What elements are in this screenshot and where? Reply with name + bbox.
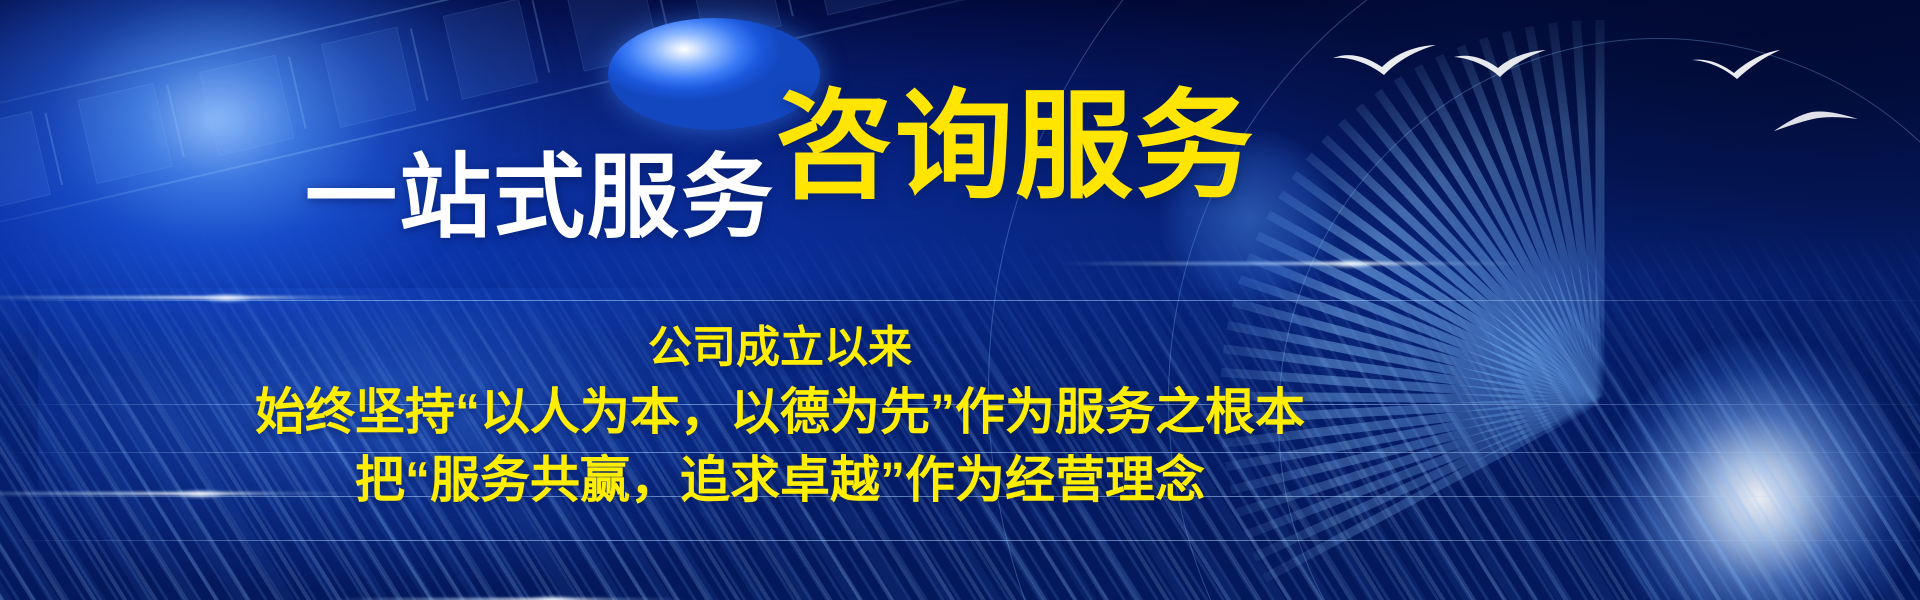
seagull-icon (1772, 105, 1860, 133)
seagull-icon (1690, 48, 1782, 80)
headline: 一站式服务 咨询服务 (0, 88, 1560, 206)
headline-primary: 一站式服务 (305, 152, 775, 244)
headline-accent: 咨询服务 (775, 88, 1255, 206)
promo-banner: 一站式服务 咨询服务 公司成立以来 始终坚持“以人为本，以德为先”作为服务之根本… (0, 0, 1920, 600)
light-streak (0, 296, 390, 299)
filmstrip-tick (531, 0, 550, 72)
filmstrip-cell (442, 0, 538, 100)
filmstrip-cell (807, 0, 903, 16)
body-line-1: 公司成立以来 (0, 318, 1560, 378)
body-copy: 公司成立以来 始终坚持“以人为本，以德为先”作为服务之根本 把“服务共赢，追求卓… (0, 318, 1560, 514)
body-line-2: 始终坚持“以人为本，以德为先”作为服务之根本 (0, 378, 1560, 446)
seagull-icon (1330, 42, 1440, 76)
scan-line (0, 540, 1920, 541)
body-line-3: 把“服务共赢，追求卓越”作为经营理念 (0, 446, 1560, 514)
seagull-icon (1452, 48, 1548, 78)
scan-line (0, 300, 1920, 301)
